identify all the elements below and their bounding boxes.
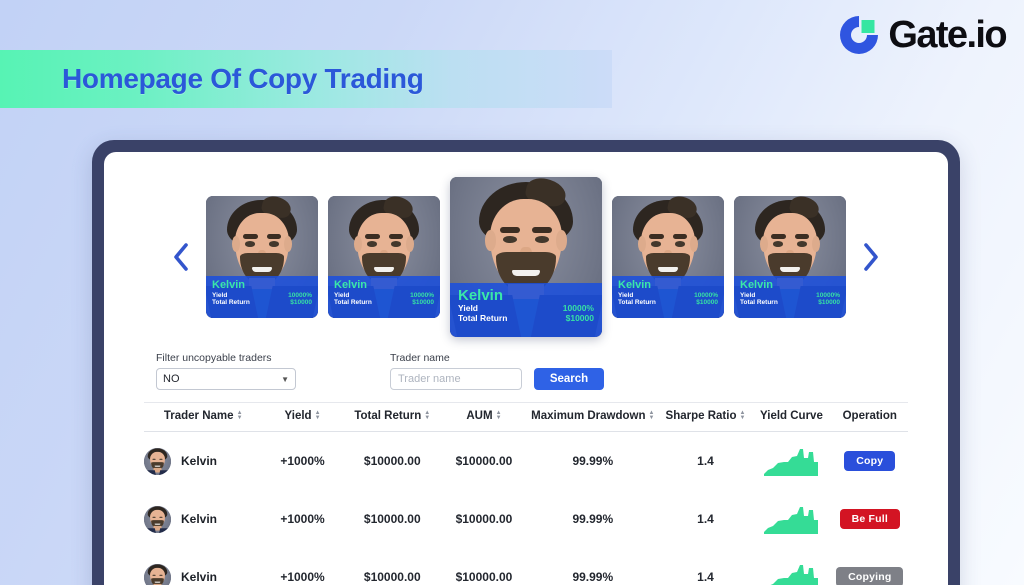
- trader-name-text: Kelvin: [181, 570, 217, 584]
- cell-yield: +1000%: [262, 548, 342, 585]
- cell-operation: Copying: [832, 548, 908, 585]
- sort-icon: ▲▼: [649, 411, 655, 421]
- trader-avatar: [144, 506, 171, 533]
- trader-card-return-label: Total Return: [458, 314, 507, 324]
- cell-sharpe-ratio: 1.4: [660, 432, 752, 491]
- cell-trader-name: Kelvin: [144, 548, 262, 585]
- column-label: Total Return: [354, 410, 421, 422]
- cell-maximum-drawdown: 99.99%: [526, 548, 660, 585]
- cell-yield-curve: [751, 548, 831, 585]
- uncopyable-filter-value: NO: [163, 373, 180, 385]
- column-label: AUM: [466, 410, 492, 422]
- trader-card[interactable]: Kelvin Yield 10000% Total Return $10000: [612, 196, 724, 318]
- column-header-trader-name[interactable]: Trader Name▲▼: [144, 403, 262, 432]
- copy-button[interactable]: Copy: [844, 451, 895, 471]
- trader-avatar: [144, 448, 171, 475]
- trader-card-yield-label: Yield: [334, 292, 349, 299]
- column-header-yield[interactable]: Yield▲▼: [262, 403, 342, 432]
- cell-trader-name: Kelvin: [144, 490, 262, 548]
- column-label: Yield: [285, 410, 312, 422]
- cell-yield: +1000%: [262, 432, 342, 491]
- yield-curve-sparkline: [751, 504, 831, 534]
- cell-total-return: $10000.00: [343, 548, 442, 585]
- trader-card-yield-value: 10000%: [816, 292, 840, 299]
- trader-avatar: [144, 564, 171, 585]
- cell-sharpe-ratio: 1.4: [660, 490, 752, 548]
- sort-icon: ▲▼: [424, 411, 430, 421]
- trader-name-text: Kelvin: [181, 512, 217, 526]
- uncopyable-filter-group: Filter uncopyable traders NO ▼: [156, 352, 296, 390]
- trader-card-return-value: $10000: [290, 299, 312, 306]
- brand-logo: Gate.io: [836, 12, 1006, 58]
- trader-card-return-value: $10000: [696, 299, 718, 306]
- cell-total-return: $10000.00: [343, 432, 442, 491]
- brand-wordmark: Gate.io: [888, 16, 1006, 54]
- carousel-prev-button[interactable]: [166, 236, 196, 278]
- table-header-row: Trader Name▲▼ Yield▲▼ Total Return▲▼ AUM…: [144, 403, 908, 432]
- chevron-down-icon: ▼: [281, 375, 289, 384]
- trader-card-info: Kelvin Yield 10000% Total Return $10000: [206, 276, 318, 318]
- trader-card-info: Kelvin Yield 10000% Total Return $10000: [734, 276, 846, 318]
- device-frame: Kelvin Yield 10000% Total Return $10000: [92, 140, 960, 585]
- cell-maximum-drawdown: 99.99%: [526, 432, 660, 491]
- trader-name-input[interactable]: [390, 368, 522, 390]
- app-screen: Kelvin Yield 10000% Total Return $10000: [104, 152, 948, 585]
- trader-name-group: Trader name: [390, 352, 522, 390]
- table-row[interactable]: Kelvin +1000% $10000.00 $10000.00 99.99%…: [144, 548, 908, 585]
- trader-card-name: Kelvin: [740, 280, 840, 292]
- trader-card-info: Kelvin Yield 10000% Total Return $10000: [328, 276, 440, 318]
- column-label: Yield Curve: [760, 410, 823, 422]
- page-title-banner: Homepage Of Copy Trading: [0, 50, 612, 108]
- table-row[interactable]: Kelvin +1000% $10000.00 $10000.00 99.99%…: [144, 490, 908, 548]
- cell-aum: $10000.00: [442, 548, 526, 585]
- trader-card[interactable]: Kelvin Yield 10000% Total Return $10000: [206, 196, 318, 318]
- trader-card-info: Kelvin Yield 10000% Total Return $10000: [612, 276, 724, 318]
- column-header-yield-curve: Yield Curve: [751, 403, 831, 432]
- trader-card-yield-label: Yield: [618, 292, 633, 299]
- traders-table: Trader Name▲▼ Yield▲▼ Total Return▲▼ AUM…: [144, 402, 908, 585]
- trader-card-return-value: $10000: [818, 299, 840, 306]
- cell-yield: +1000%: [262, 490, 342, 548]
- sort-icon: ▲▼: [237, 411, 243, 421]
- trader-card-return-value: $10000: [412, 299, 434, 306]
- trader-name-label: Trader name: [390, 352, 522, 364]
- trader-card-yield-label: Yield: [212, 292, 227, 299]
- trader-carousel: Kelvin Yield 10000% Total Return $10000: [144, 176, 908, 338]
- trader-card-featured[interactable]: Kelvin Yield 10000% Total Return $10000: [450, 177, 602, 337]
- sort-icon: ▲▼: [315, 411, 321, 421]
- column-header-operation: Operation: [832, 403, 908, 432]
- trader-card-return-label: Total Return: [618, 299, 656, 306]
- uncopyable-filter-label: Filter uncopyable traders: [156, 352, 296, 364]
- trader-card-return-value: $10000: [566, 314, 594, 324]
- cell-total-return: $10000.00: [343, 490, 442, 548]
- search-button[interactable]: Search: [534, 368, 604, 390]
- cell-maximum-drawdown: 99.99%: [526, 490, 660, 548]
- be-full-button[interactable]: Be Full: [840, 509, 900, 529]
- cell-sharpe-ratio: 1.4: [660, 548, 752, 585]
- trader-card-return-label: Total Return: [212, 299, 250, 306]
- cell-aum: $10000.00: [442, 490, 526, 548]
- column-header-sharpe-ratio[interactable]: Sharpe Ratio▲▼: [660, 403, 752, 432]
- column-label: Maximum Drawdown: [531, 410, 645, 422]
- trader-name-text: Kelvin: [181, 454, 217, 468]
- table-row[interactable]: Kelvin +1000% $10000.00 $10000.00 99.99%…: [144, 432, 908, 491]
- trader-card-name: Kelvin: [212, 280, 312, 292]
- trader-card-yield-value: 10000%: [410, 292, 434, 299]
- copying-button[interactable]: Copying: [836, 567, 903, 585]
- yield-curve-sparkline: [751, 446, 831, 476]
- column-label: Operation: [843, 410, 897, 422]
- sort-icon: ▲▼: [739, 411, 745, 421]
- trader-card-return-label: Total Return: [740, 299, 778, 306]
- trader-card-name: Kelvin: [334, 280, 434, 292]
- uncopyable-filter-select[interactable]: NO ▼: [156, 368, 296, 390]
- trader-card-info: Kelvin Yield 10000% Total Return $10000: [450, 283, 602, 337]
- trader-card[interactable]: Kelvin Yield 10000% Total Return $10000: [328, 196, 440, 318]
- trader-card-yield-label: Yield: [740, 292, 755, 299]
- yield-curve-sparkline: [751, 562, 831, 585]
- column-header-aum[interactable]: AUM▲▼: [442, 403, 526, 432]
- trader-card-yield-value: 10000%: [288, 292, 312, 299]
- page-title: Homepage Of Copy Trading: [62, 63, 424, 95]
- column-header-total-return[interactable]: Total Return▲▼: [343, 403, 442, 432]
- carousel-track: Kelvin Yield 10000% Total Return $10000: [206, 177, 846, 337]
- column-label: Trader Name: [164, 410, 234, 422]
- chevron-left-icon: [171, 241, 191, 273]
- trader-card-name: Kelvin: [458, 288, 594, 304]
- trader-card[interactable]: Kelvin Yield 10000% Total Return $10000: [734, 196, 846, 318]
- column-header-maximum-drawdown[interactable]: Maximum Drawdown▲▼: [526, 403, 660, 432]
- trader-card-name: Kelvin: [618, 280, 718, 292]
- cell-yield-curve: [751, 490, 831, 548]
- carousel-next-button[interactable]: [856, 236, 886, 278]
- cell-yield-curve: [751, 432, 831, 491]
- chevron-right-icon: [861, 241, 881, 273]
- gate-logo-icon: [836, 12, 882, 58]
- column-label: Sharpe Ratio: [666, 410, 737, 422]
- cell-trader-name: Kelvin: [144, 432, 262, 491]
- trader-card-return-label: Total Return: [334, 299, 372, 306]
- cell-aum: $10000.00: [442, 432, 526, 491]
- sort-icon: ▲▼: [496, 411, 502, 421]
- cell-operation: Copy: [832, 432, 908, 491]
- cell-operation: Be Full: [832, 490, 908, 548]
- trader-card-yield-value: 10000%: [694, 292, 718, 299]
- filter-bar: Filter uncopyable traders NO ▼ Trader na…: [144, 338, 908, 390]
